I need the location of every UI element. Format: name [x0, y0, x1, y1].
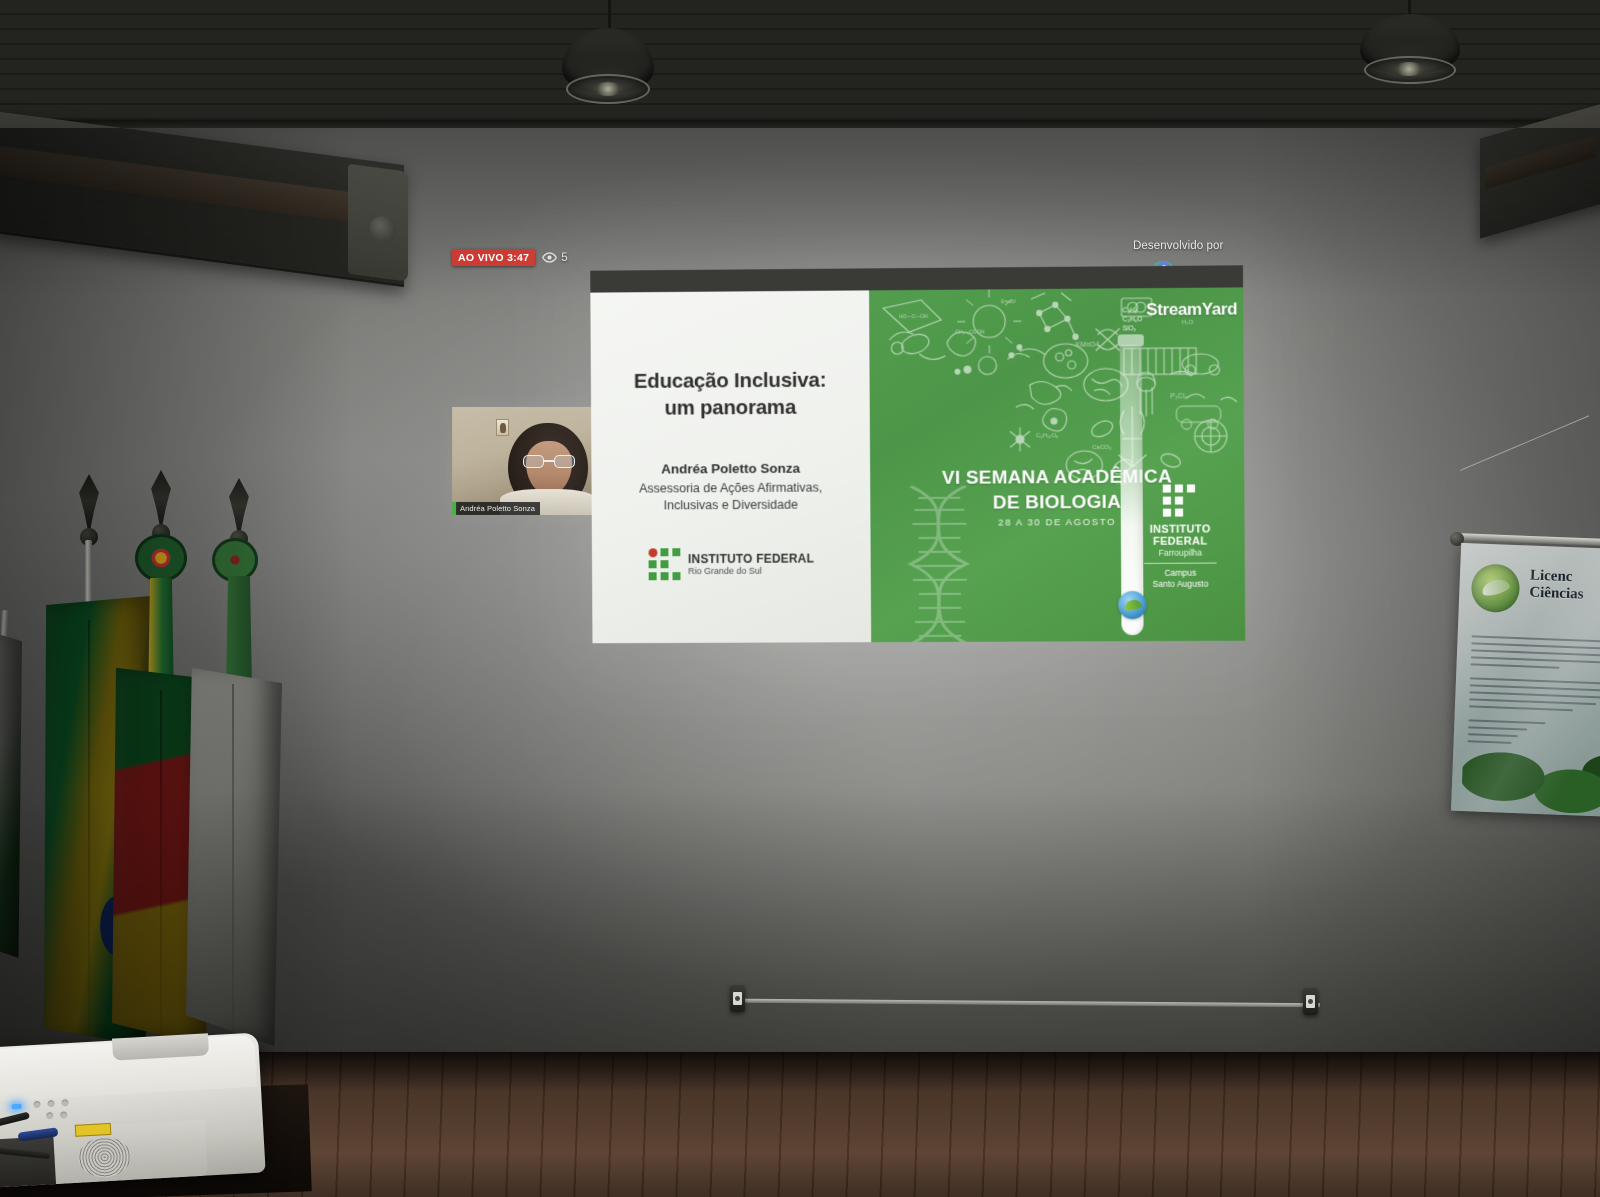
room-scene: Licenc Ciências [0, 0, 1600, 1197]
slide-title-line1: Educação Inclusiva: [606, 366, 855, 395]
webcam-wall-picture [496, 419, 509, 436]
streamyard-brand: StreamYard [1146, 299, 1237, 320]
ifrs-logo-text: INSTITUTO FEDERAL Rio Grande do Sul [688, 552, 814, 576]
svg-text:CaCO₃: CaCO₃ [1092, 445, 1112, 451]
slide-title-line2: um panorama [606, 393, 855, 422]
eye-icon [542, 252, 557, 263]
svg-text:E=mc²: E=mc² [1001, 299, 1016, 305]
iff-logo-line3: Farroupilha [1130, 547, 1231, 559]
ifrs-logo-line2: Rio Grande do Sul [688, 566, 814, 576]
slide-left-panel: Educação Inclusiva: um panorama Andréa P… [590, 290, 871, 643]
iff-logo: INSTITUTO FEDERAL Farroupilha Campus San… [1130, 484, 1231, 590]
speaker-role-line2: Inclusivas e Diversidade [611, 496, 850, 514]
epson-projector [0, 1033, 266, 1188]
developed-by-label: Desenvolvido por [1133, 240, 1223, 252]
svg-text:C₆H₁₂O₆: C₆H₁₂O₆ [1036, 433, 1059, 439]
instituto-federal-grid-icon [648, 548, 681, 581]
viewer-count-group: 5 [542, 252, 567, 264]
instituto-federal-grid-white-icon [1163, 484, 1197, 518]
name-tag-accent [452, 502, 456, 515]
speaker-role-line1: Assessoria de Ações Afirmativas, [611, 479, 850, 497]
iff-campus-label: Campus [1130, 567, 1231, 579]
viewer-count: 5 [561, 252, 567, 264]
slide-right-panel: KMnO4 P₂Cl₂ C₆H₁₂O₆ CaCO₃ HCl HO—C—OH CH… [869, 287, 1245, 642]
conduit-outlet-left [730, 985, 745, 1012]
conduit-outlet-right [1303, 988, 1318, 1015]
streamyard-wordmark: StreamYard [1146, 299, 1237, 320]
projected-slide[interactable]: Educação Inclusiva: um panorama Andréa P… [590, 265, 1245, 643]
slide-title: Educação Inclusiva: um panorama [606, 366, 855, 422]
iff-logo-line1: INSTITUTO [1130, 523, 1231, 536]
iff-campus-name: Santo Augusto [1130, 579, 1231, 590]
projector-power-led [12, 1104, 22, 1110]
speaker-role: Assessoria de Ações Afirmativas, Inclusi… [611, 479, 850, 514]
participant-glasses [523, 455, 575, 468]
svg-text:CH₃—COOH: CH₃—COOH [955, 329, 985, 335]
slide-stage: Educação Inclusiva: um panorama Andréa P… [590, 287, 1245, 643]
participant-name: Andréa Poletto Sonza [460, 504, 535, 513]
participant-name-tag: Andréa Poletto Sonza [452, 502, 540, 515]
banner-gloss [1451, 543, 1600, 817]
ifrs-logo-line1: INSTITUTO FEDERAL [688, 552, 814, 565]
svg-text:H₂O: H₂O [1182, 320, 1194, 326]
svg-text:HO—C—OH: HO—C—OH [899, 314, 928, 320]
speaker-name: Andréa Poletto Sonza [661, 461, 800, 477]
svg-text:KMnO4: KMnO4 [1076, 342, 1100, 349]
svg-text:P₂Cl₂: P₂Cl₂ [1170, 393, 1187, 400]
webcam-tile[interactable]: Andréa Poletto Sonza [452, 407, 593, 515]
tube-formula-marks: C₆H₆C₂H₆OSiO₂ [1123, 306, 1145, 333]
department-banner: Licenc Ciências [1451, 543, 1600, 817]
iff-logo-line2: FEDERAL [1130, 535, 1231, 548]
live-badge: AO VIVO 3:47 [452, 249, 535, 266]
globe-leaf-icon [1118, 591, 1146, 619]
ceiling [0, 0, 1600, 128]
projector-warning-label [75, 1123, 112, 1137]
live-status-bar: AO VIVO 3:47 5 [452, 249, 568, 266]
ifrs-logo: INSTITUTO FEDERAL Rio Grande do Sul [648, 548, 814, 582]
